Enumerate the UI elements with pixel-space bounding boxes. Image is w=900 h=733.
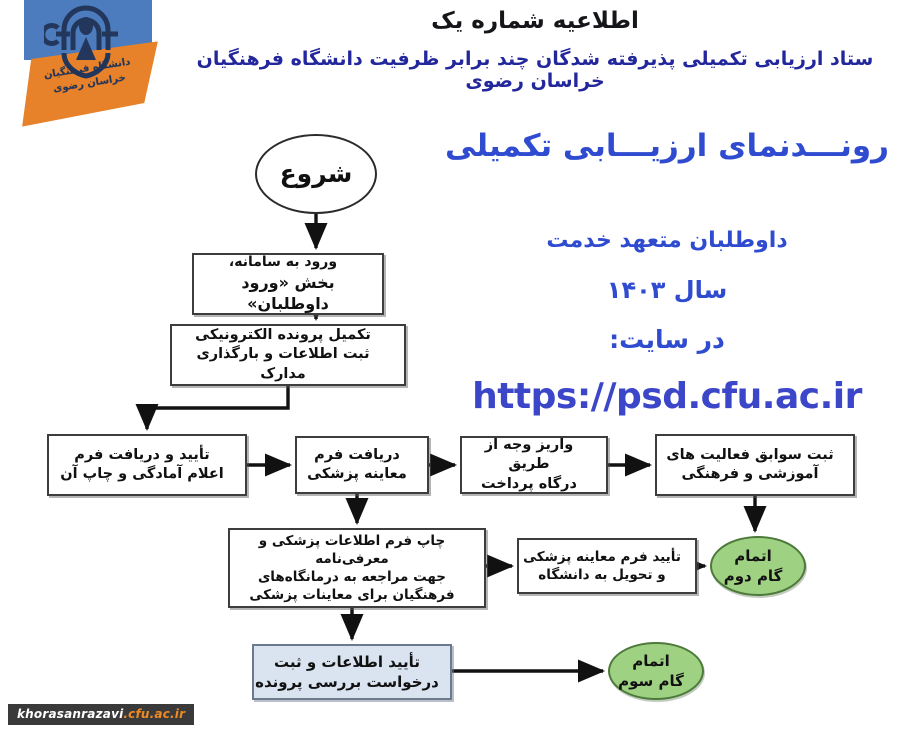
end-step-two-line1: اتمام xyxy=(707,546,799,566)
step-records-line1: ثبت سوابق فعالیت های xyxy=(652,446,848,465)
flow-node-step-confirmmed: تأیید فرم معاینه پزشکی و تحویل به دانشگا… xyxy=(517,538,697,594)
step-readiness-line2: اعلام آمادگی و چاپ آن xyxy=(44,465,240,484)
step-printmed-line1: چاپ فرم اطلاعات پزشکی و معرفی‌نامه xyxy=(225,532,479,568)
step-records-line2: آموزشی و فرهنگی xyxy=(652,465,848,484)
step-payment-line1: واریز وجه از طریق xyxy=(457,436,601,475)
step-efile-line2: ثبت اطلاعات و بارگذاری مدارک xyxy=(167,345,399,384)
step-readiness-line1: تأیید و دریافت فرم xyxy=(44,446,240,465)
watermark-domain: khorasanrazavi xyxy=(17,707,123,721)
step-printmed-line3: فرهنگیان برای معاینات پزشکی xyxy=(225,586,479,604)
flow-node-end-step-three: اتمام گام سوم xyxy=(608,642,704,700)
step-confirmmed-line1: تأیید فرم معاینه پزشکی xyxy=(514,548,690,566)
flow-node-start: شروع xyxy=(255,134,377,214)
step-efile-line1: تکمیل پرونده الکترونیکی xyxy=(167,326,399,345)
flow-node-step-login: ورود به سامانه، بخش «ورود داوطلبان» xyxy=(192,253,384,315)
flow-node-end-step-two: اتمام گام دوم xyxy=(710,536,806,596)
step-medform-line1: دریافت فرم xyxy=(292,446,422,465)
step-confirminfo-line2: درخواست بررسی پرونده xyxy=(249,672,445,692)
flow-node-step-printmed: چاپ فرم اطلاعات پزشکی و معرفی‌نامه جهت م… xyxy=(228,528,486,608)
end-step-three-line2: گام سوم xyxy=(605,671,697,691)
end-step-two-line2: گام دوم xyxy=(707,566,799,586)
step-login-line2: بخش «ورود داوطلبان» xyxy=(241,273,334,314)
watermark-tld: .cfu.ac.ir xyxy=(123,707,185,721)
step-confirmmed-line2: و تحویل به دانشگاه xyxy=(514,566,690,584)
flow-node-step-medform: دریافت فرم معاینه پزشکی xyxy=(295,436,429,494)
step-medform-line2: معاینه پزشکی xyxy=(292,465,422,484)
flow-node-step-efile: تکمیل پرونده الکترونیکی ثبت اطلاعات و با… xyxy=(170,324,406,386)
step-confirminfo-line1: تأیید اطلاعات و ثبت xyxy=(249,652,445,672)
step-login-line1: ورود به سامانه، xyxy=(189,253,377,272)
end-step-three-line1: اتمام xyxy=(605,651,697,671)
flow-node-start-label: شروع xyxy=(257,157,375,191)
flow-node-step-readiness: تأیید و دریافت فرم اعلام آمادگی و چاپ آن xyxy=(47,434,247,496)
flow-node-step-records: ثبت سوابق فعالیت های آموزشی و فرهنگی xyxy=(655,434,855,496)
step-payment-line2: درگاه پرداخت xyxy=(457,475,601,494)
infographic-page: دانشگاه فرهنگیان خراسان رضوی اطلاعیه شما… xyxy=(0,0,900,733)
flow-node-step-confirminfo: تأیید اطلاعات و ثبت درخواست بررسی پرونده xyxy=(252,644,452,700)
flowchart-connectors xyxy=(0,0,900,733)
flow-node-step-payment: واریز وجه از طریق درگاه پرداخت xyxy=(460,436,608,494)
site-watermark: khorasanrazavi.cfu.ac.ir xyxy=(8,704,194,725)
step-printmed-line2: جهت مراجعه به درمانگاه‌های xyxy=(225,568,479,586)
